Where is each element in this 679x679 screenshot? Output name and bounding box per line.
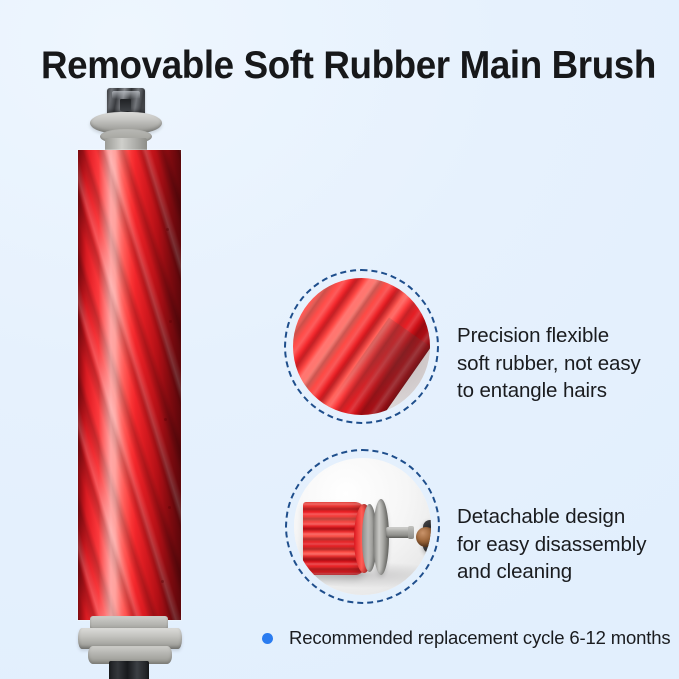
brush-rubber-body bbox=[78, 150, 181, 620]
footnote-label: Recommended replacement cycle 6-12 month… bbox=[289, 626, 671, 650]
brush-surface-dot bbox=[166, 228, 169, 231]
brush-fin-section bbox=[303, 502, 365, 575]
brush-surface-dot bbox=[169, 320, 172, 323]
callout-photo-rubber-fins bbox=[293, 278, 430, 415]
main-brush-image bbox=[60, 88, 200, 668]
callout-photo-detachable-end bbox=[294, 458, 431, 595]
bullet-dot-icon bbox=[262, 633, 273, 644]
footnote-row: Recommended replacement cycle 6-12 month… bbox=[262, 626, 671, 650]
feature-text-detachable: Detachable design for easy disassembly a… bbox=[457, 503, 672, 586]
detached-end-cap bbox=[416, 520, 431, 553]
brush-shaft-pin bbox=[386, 527, 411, 538]
callout-circle-detachable bbox=[285, 449, 440, 604]
brush-surface-dot bbox=[161, 580, 164, 583]
callout-circle-fins bbox=[284, 269, 439, 424]
brush-hex-coupler-icon bbox=[107, 88, 145, 114]
end-cap-bearing bbox=[416, 527, 431, 547]
brush-bottom-shaft bbox=[109, 661, 149, 679]
page-title: Removable Soft Rubber Main Brush bbox=[41, 44, 633, 88]
feature-text-rubber: Precision flexible soft rubber, not easy… bbox=[457, 322, 672, 405]
brush-surface-dot bbox=[164, 418, 167, 421]
product-feature-graphic: Removable Soft Rubber Main Brush Precisi… bbox=[0, 0, 679, 679]
brush-surface-dot bbox=[168, 506, 171, 509]
